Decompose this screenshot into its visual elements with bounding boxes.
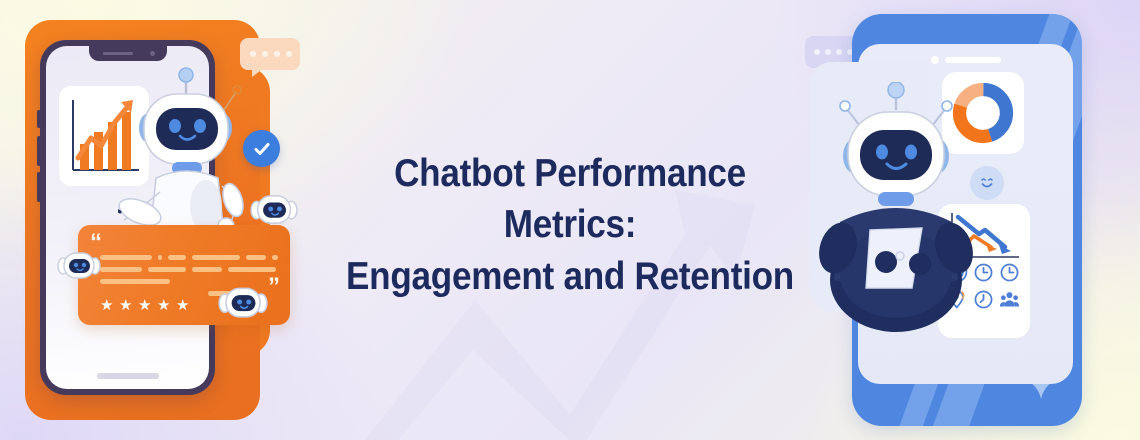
clock-icon[interactable]: [999, 262, 1020, 283]
text-placeholder-line: [272, 255, 278, 260]
robot-head-small-3: [218, 282, 268, 327]
text-placeholder-line: [168, 255, 186, 260]
robot-head-small-2: [250, 190, 298, 233]
title-line-2: Engagement and Retention: [336, 251, 804, 302]
typing-dots: [250, 51, 292, 57]
text-placeholder-line: [100, 279, 170, 284]
typing-dots: [814, 49, 853, 55]
phone-notch: [89, 46, 167, 61]
left-illustration: “ ” ★ ★ ★ ★ ★: [0, 0, 330, 440]
text-placeholder-line: [158, 255, 162, 260]
banner-root: “ ” ★ ★ ★ ★ ★: [0, 0, 1140, 440]
text-placeholder-line: [192, 267, 222, 272]
text-placeholder-line: [246, 255, 266, 260]
star-icon: ★: [100, 298, 115, 313]
star-rating: ★ ★ ★ ★ ★: [100, 298, 191, 313]
robot-head-icon: [250, 190, 298, 228]
right-illustration: [810, 0, 1140, 440]
users-group-icon[interactable]: [999, 289, 1020, 310]
text-placeholder-line: [148, 267, 186, 272]
check-icon: [252, 139, 272, 159]
phone-button-volume-down: [37, 172, 41, 202]
quote-close-icon: ”: [268, 275, 280, 299]
text-placeholder-line: [100, 255, 152, 260]
robot-head-small-1: [57, 248, 101, 287]
star-icon: ★: [176, 298, 191, 313]
phone-home-indicator: [97, 373, 159, 379]
clock-icon[interactable]: [973, 289, 994, 310]
robot-head-icon: [57, 248, 101, 282]
star-icon: ★: [119, 298, 134, 313]
text-placeholder-line: [100, 267, 142, 272]
text-placeholder-line: [192, 255, 240, 260]
robot-head-icon: [218, 282, 268, 322]
robot-main-right: [816, 82, 976, 337]
banner-title: Chatbot Performance Metrics: Engagement …: [336, 148, 804, 302]
clock-icon[interactable]: [973, 262, 994, 283]
smiley-icon: [977, 173, 997, 193]
phone-button-mute: [37, 110, 41, 128]
title-line-1: Chatbot Performance Metrics:: [336, 148, 804, 251]
text-placeholder-line: [228, 267, 276, 272]
robot-svg: [816, 82, 976, 332]
phone-notch: [931, 56, 1001, 64]
phone-button-volume-up: [37, 136, 41, 166]
star-icon: ★: [157, 298, 172, 313]
star-icon: ★: [138, 298, 153, 313]
verified-check-badge: [243, 130, 280, 167]
